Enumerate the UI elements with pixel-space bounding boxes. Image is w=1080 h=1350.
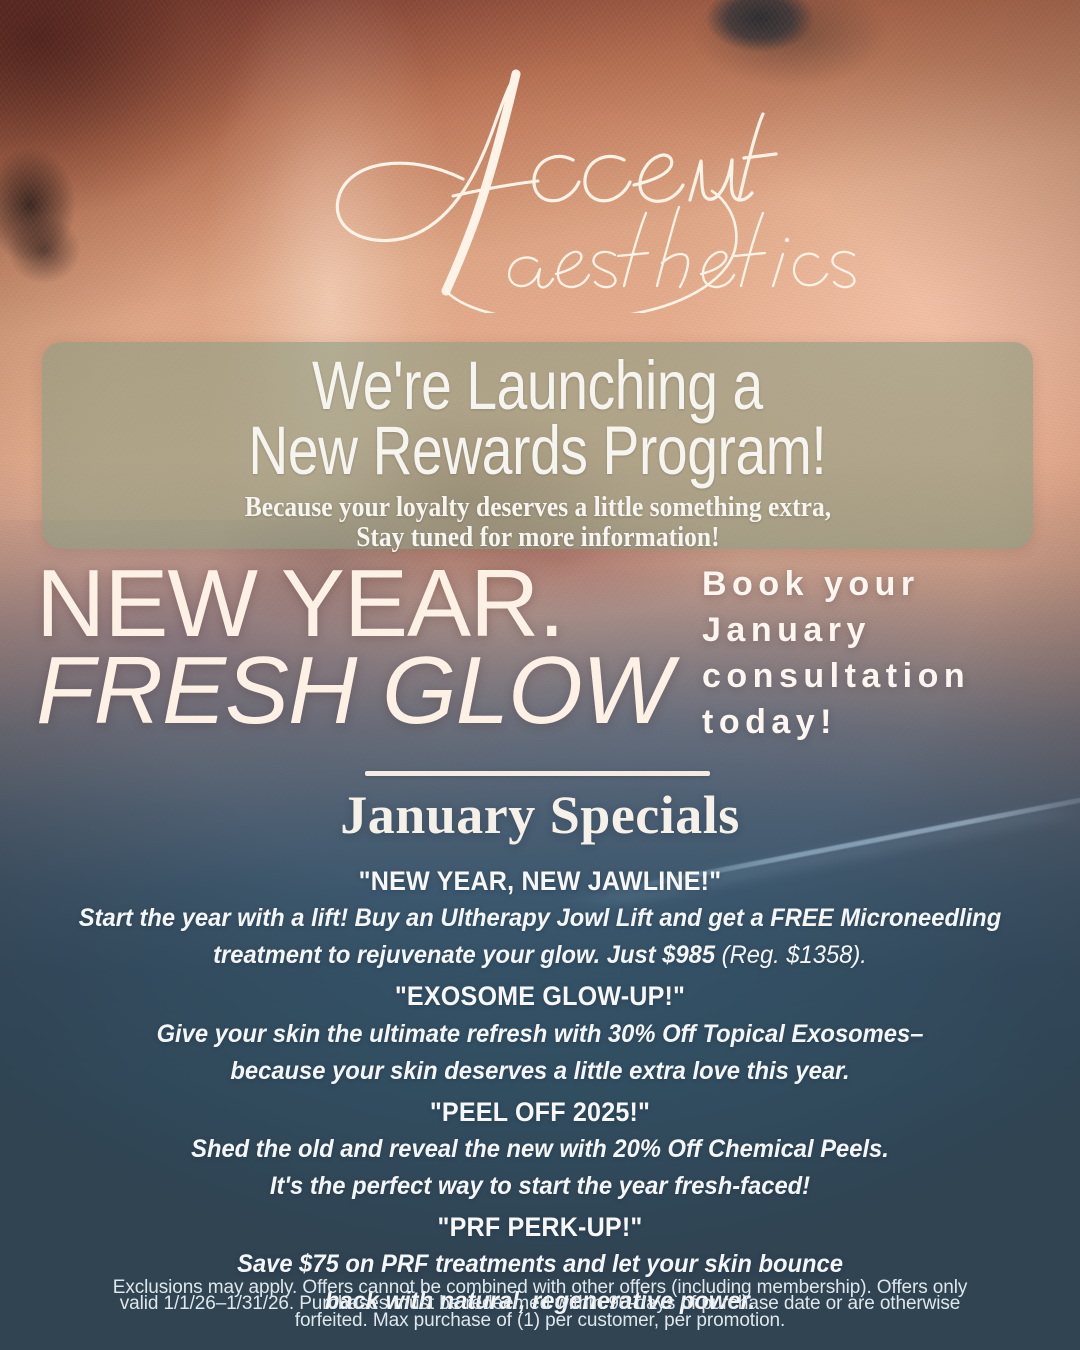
hero-line-fresh-glow: FRESH GLOW	[36, 645, 696, 737]
rewards-announcement-banner: We're Launching a New Rewards Program! B…	[42, 342, 1033, 549]
banner-headline: We're Launching a New Rewards Program!	[42, 354, 1033, 484]
special-item: "PEEL OFF 2025!" Shed the old and reveal…	[50, 1093, 1030, 1205]
disclaimer-text: Exclusions may apply. Offers cannot be c…	[90, 1280, 990, 1329]
promo-poster: We're Launching a New Rewards Program! B…	[0, 0, 1080, 1350]
special-name: "PEEL OFF 2025!"	[84, 1093, 995, 1131]
special-description: Give your skin the ultimate refresh with…	[75, 1016, 1006, 1090]
specials-list: "NEW YEAR, NEW JAWLINE!" Start the year …	[50, 862, 1030, 1323]
special-item: "EXOSOME GLOW-UP!" Give your skin the ul…	[50, 977, 1030, 1089]
special-name: "EXOSOME GLOW-UP!"	[84, 977, 995, 1015]
brand-logo	[0, 48, 1080, 318]
special-regular-price: (Reg. $1358).	[722, 941, 867, 969]
special-description: Start the year with a lift! Buy an Ulthe…	[75, 900, 1006, 974]
hero-line-new-year: NEW YEAR.	[36, 558, 696, 649]
section-divider	[365, 771, 710, 776]
special-name: "NEW YEAR, NEW JAWLINE!"	[84, 862, 995, 900]
script-swash-logo-icon	[220, 48, 860, 313]
banner-subtext: Because your loyalty deserves a little s…	[45, 492, 1030, 553]
hero-headline-block: NEW YEAR. FRESH GLOW	[36, 558, 696, 737]
special-name: "PRF PERK-UP!"	[84, 1208, 995, 1246]
special-item: "NEW YEAR, NEW JAWLINE!" Start the year …	[50, 862, 1030, 974]
specials-section-title: January Specials	[0, 788, 1080, 842]
special-description: Shed the old and reveal the new with 20%…	[75, 1131, 1006, 1205]
booking-cta-text[interactable]: Book your January consultation today!	[702, 562, 1062, 746]
